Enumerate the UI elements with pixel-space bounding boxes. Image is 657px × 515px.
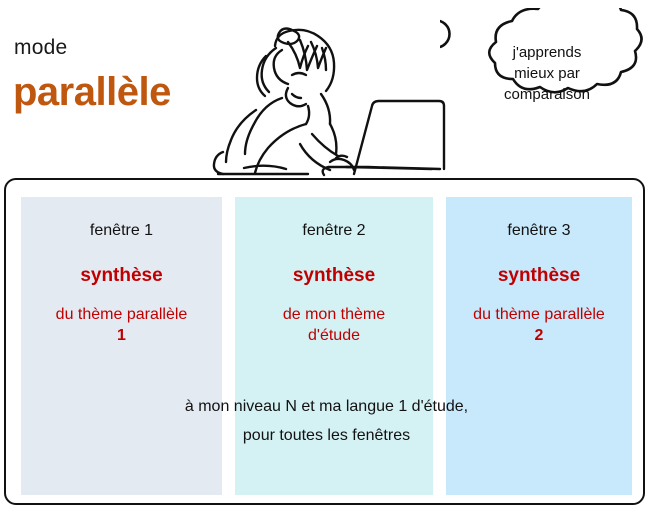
synthesis-label-2: synthèse (235, 265, 433, 287)
subject-text-1: du thème parallèle 1 (21, 304, 222, 346)
window-column-1[interactable]: fenêtre 1 synthèse du thème parallèle 1 (21, 197, 222, 495)
window-label-2: fenêtre 2 (235, 221, 433, 241)
mode-label: mode (14, 36, 67, 60)
page-title: parallèle (13, 70, 171, 115)
window-label-1: fenêtre 1 (21, 221, 222, 241)
subject-text-3: du thème parallèle 2 (446, 304, 632, 346)
student-at-laptop-thinking-icon (196, 2, 446, 178)
window-label-3: fenêtre 3 (446, 221, 632, 241)
synthesis-label-3: synthèse (446, 265, 632, 287)
thought-bubble: j'apprends mieux par comparaison (440, 8, 654, 136)
window-column-3[interactable]: fenêtre 3 synthèse du thème parallèle 2 (446, 197, 632, 495)
subject-line-3b: 2 (535, 327, 544, 344)
window-columns: fenêtre 1 synthèse du thème parallèle 1 … (6, 180, 647, 507)
synthesis-label-1: synthèse (21, 265, 222, 287)
subject-text-2: de mon thème d'étude (235, 304, 433, 346)
header-banner: mode parallèle (0, 0, 657, 178)
parallel-mode-panel: fenêtre 1 synthèse du thème parallèle 1 … (4, 178, 645, 505)
subject-line-2a: de mon thème (283, 306, 385, 323)
subject-line-1b: 1 (117, 327, 126, 344)
subject-line-1a: du thème parallèle (56, 306, 188, 323)
subject-line-3a: du thème parallèle (473, 306, 605, 323)
subject-line-2b: d'étude (308, 327, 360, 344)
window-column-2[interactable]: fenêtre 2 synthèse de mon thème d'étude (235, 197, 433, 495)
